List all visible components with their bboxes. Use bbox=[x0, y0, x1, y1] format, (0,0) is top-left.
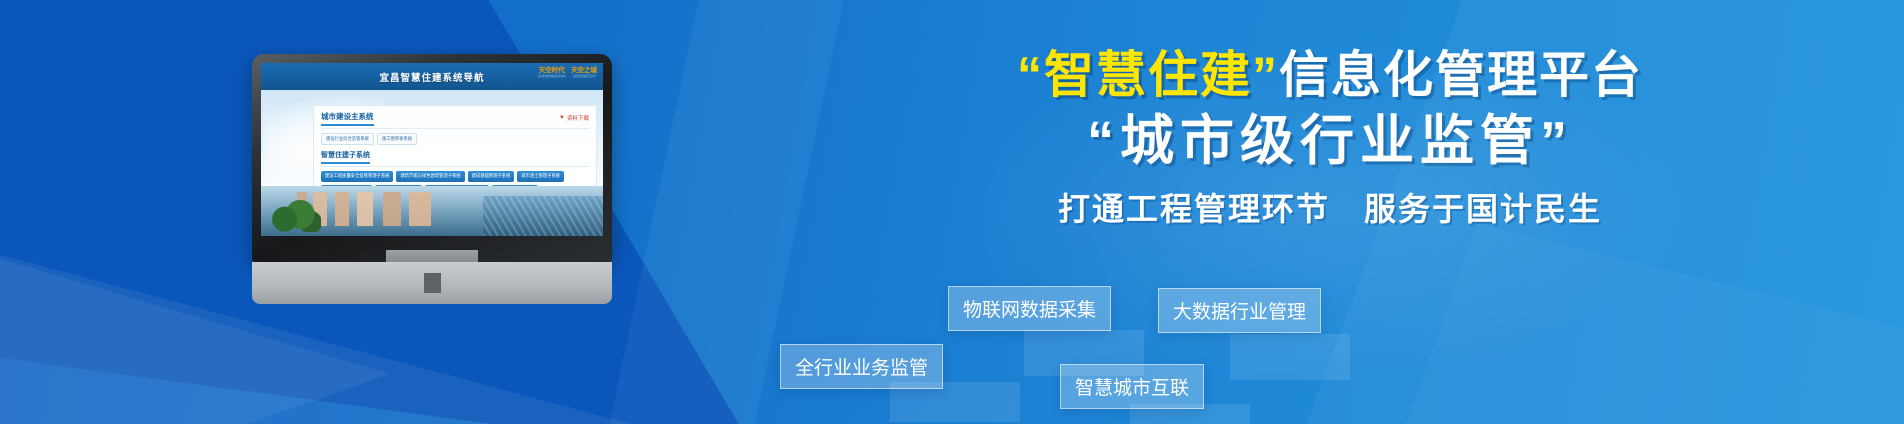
download-label: 资料下载 bbox=[567, 114, 589, 122]
city-foliage bbox=[269, 200, 321, 232]
headline-highlight-text: 智慧住建 bbox=[1044, 47, 1252, 103]
feature-tag-industry-supervision[interactable]: 全行业业务监管 bbox=[780, 344, 943, 389]
brand-mark-1: 天空时代 宜昌市城市建设信息中心 bbox=[537, 67, 566, 79]
portal-chip[interactable]: 施工图审查系统 bbox=[377, 133, 417, 145]
portal-page: 宜昌智慧住建系统导航 天空时代 宜昌市城市建设信息中心 天空之城 宜昌智慧住建云… bbox=[261, 63, 603, 236]
portal-title: 宜昌智慧住建系统导航 bbox=[379, 70, 484, 84]
headline-block: “智慧住建”信息化管理平台 “城市级行业监管” 打通工程管理环节 服务于国计民生 bbox=[800, 48, 1860, 230]
portal-cityscape-image bbox=[261, 186, 603, 236]
brand-mark-1-name: 天空时代 bbox=[537, 67, 566, 75]
portal-section-title-0: 城市建设主系统 bbox=[321, 111, 374, 126]
monitor-bezel: 宜昌智慧住建系统导航 天空时代 宜昌市城市建设信息中心 天空之城 宜昌智慧住建云… bbox=[252, 54, 612, 262]
monitor-screen: 宜昌智慧住建系统导航 天空时代 宜昌市城市建设信息中心 天空之城 宜昌智慧住建云… bbox=[261, 63, 603, 236]
portal-content: 城市建设主系统 ▼ 资料下载 建设行业综合监管系统 施工图审查系统 智慧住建子系… bbox=[313, 105, 597, 190]
city-glass-facade bbox=[483, 196, 603, 236]
quote-close-glyph: ” bbox=[1252, 47, 1279, 103]
portal-chip[interactable]: 建筑节能与绿色建筑管理子系统 bbox=[396, 171, 464, 181]
feature-tag-bigdata-industry[interactable]: 大数据行业管理 bbox=[1158, 288, 1321, 333]
feature-tag-smart-city[interactable]: 智慧城市互联 bbox=[1060, 364, 1204, 409]
apple-logo-icon bbox=[424, 273, 441, 293]
feature-tag-iot-data[interactable]: 物联网数据采集 bbox=[948, 286, 1111, 331]
brand-mark-2-name: 天空之城 bbox=[571, 67, 597, 75]
tag-shadow-block bbox=[1230, 334, 1350, 380]
download-icon: ▼ bbox=[559, 115, 565, 121]
quote-open-glyph: “ bbox=[1017, 47, 1044, 103]
brand-mark-1-subtitle: 宜昌市城市建设信息中心 bbox=[537, 75, 566, 79]
promo-banner: 宜昌智慧住建系统导航 天空时代 宜昌市城市建设信息中心 天空之城 宜昌智慧住建云… bbox=[0, 0, 1904, 424]
portal-chip-row-0: 建设行业综合监管系统 施工图审查系统 bbox=[321, 133, 589, 145]
monitor-base bbox=[252, 262, 612, 304]
tagline: 打通工程管理环节 服务于国计民生 bbox=[800, 184, 1860, 230]
headline-primary: “智慧住建”信息化管理平台 bbox=[800, 48, 1860, 102]
brand-mark-2-subtitle: 宜昌智慧住建云平台 bbox=[571, 75, 597, 79]
feature-tag-group: 物联网数据采集 大数据行业管理 全行业业务监管 智慧城市互联 bbox=[780, 286, 1500, 406]
portal-section-header-1: 智慧住建子系统 bbox=[321, 150, 589, 167]
headline-secondary: “城市级行业监管” bbox=[800, 112, 1860, 170]
portal-section-header-0: 城市建设主系统 ▼ 资料下载 bbox=[321, 111, 589, 129]
portal-chip[interactable]: 建设工程质量安全监管管理子系统 bbox=[321, 171, 393, 181]
imac-mockup: 宜昌智慧住建系统导航 天空时代 宜昌市城市建设信息中心 天空之城 宜昌智慧住建云… bbox=[252, 54, 612, 354]
download-link[interactable]: ▼ 资料下载 bbox=[559, 114, 589, 122]
portal-brand-group: 天空时代 宜昌市城市建设信息中心 天空之城 宜昌智慧住建云平台 bbox=[537, 67, 597, 79]
brand-mark-2: 天空之城 宜昌智慧住建云平台 bbox=[571, 67, 597, 79]
portal-chip[interactable]: 建成基础管理子系统 bbox=[468, 171, 515, 181]
portal-chip[interactable]: 城市渣土管理子系统 bbox=[517, 171, 564, 181]
portal-section-title-1: 智慧住建子系统 bbox=[321, 150, 370, 164]
portal-chip[interactable]: 建设行业综合监管系统 bbox=[321, 133, 374, 145]
headline-primary-rest: 信息化管理平台 bbox=[1279, 47, 1643, 103]
